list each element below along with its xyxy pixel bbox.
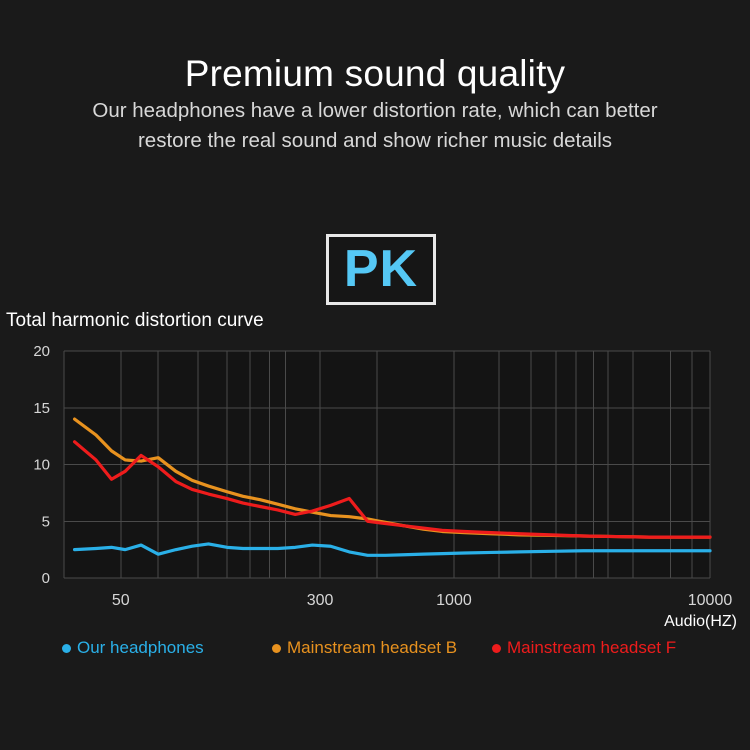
legend-marker-icon (62, 644, 71, 653)
svg-text:50: 50 (112, 592, 130, 609)
page-subtitle: Our headphones have a lower distortion r… (50, 96, 700, 156)
chart-title: Total harmonic distortion curve (6, 310, 264, 332)
svg-text:1000: 1000 (436, 592, 472, 609)
page-subtitle-line-2: restore the real sound and show richer m… (50, 126, 700, 156)
svg-text:20: 20 (33, 343, 50, 360)
chart-legend: Our headphones Mainstream headset B Main… (0, 638, 750, 666)
legend-item-label: Our headphones (77, 638, 204, 658)
distortion-chart: 0510152050300100010000Audio(HZ) (0, 336, 750, 636)
svg-text:300: 300 (307, 592, 334, 609)
svg-text:Audio(HZ): Audio(HZ) (664, 613, 737, 630)
legend-item-mainstream-f: Mainstream headset F (492, 638, 676, 658)
page-subtitle-line-1: Our headphones have a lower distortion r… (50, 96, 700, 126)
page-title: Premium sound quality (0, 51, 750, 97)
promo-page: Premium sound quality Our headphones hav… (0, 0, 750, 750)
legend-marker-icon (272, 644, 281, 653)
legend-item-our-headphones: Our headphones (62, 638, 204, 658)
svg-text:10: 10 (33, 457, 50, 474)
legend-item-mainstream-b: Mainstream headset B (272, 638, 457, 658)
pk-badge-label: PK (344, 243, 418, 295)
svg-text:5: 5 (42, 513, 50, 530)
svg-text:15: 15 (33, 400, 50, 417)
chart-canvas: 0510152050300100010000Audio(HZ) (0, 336, 750, 636)
legend-marker-icon (492, 644, 501, 653)
legend-item-label: Mainstream headset B (287, 638, 457, 658)
pk-badge: PK (326, 234, 436, 305)
svg-text:10000: 10000 (688, 592, 733, 609)
svg-text:0: 0 (42, 570, 50, 587)
legend-item-label: Mainstream headset F (507, 638, 676, 658)
